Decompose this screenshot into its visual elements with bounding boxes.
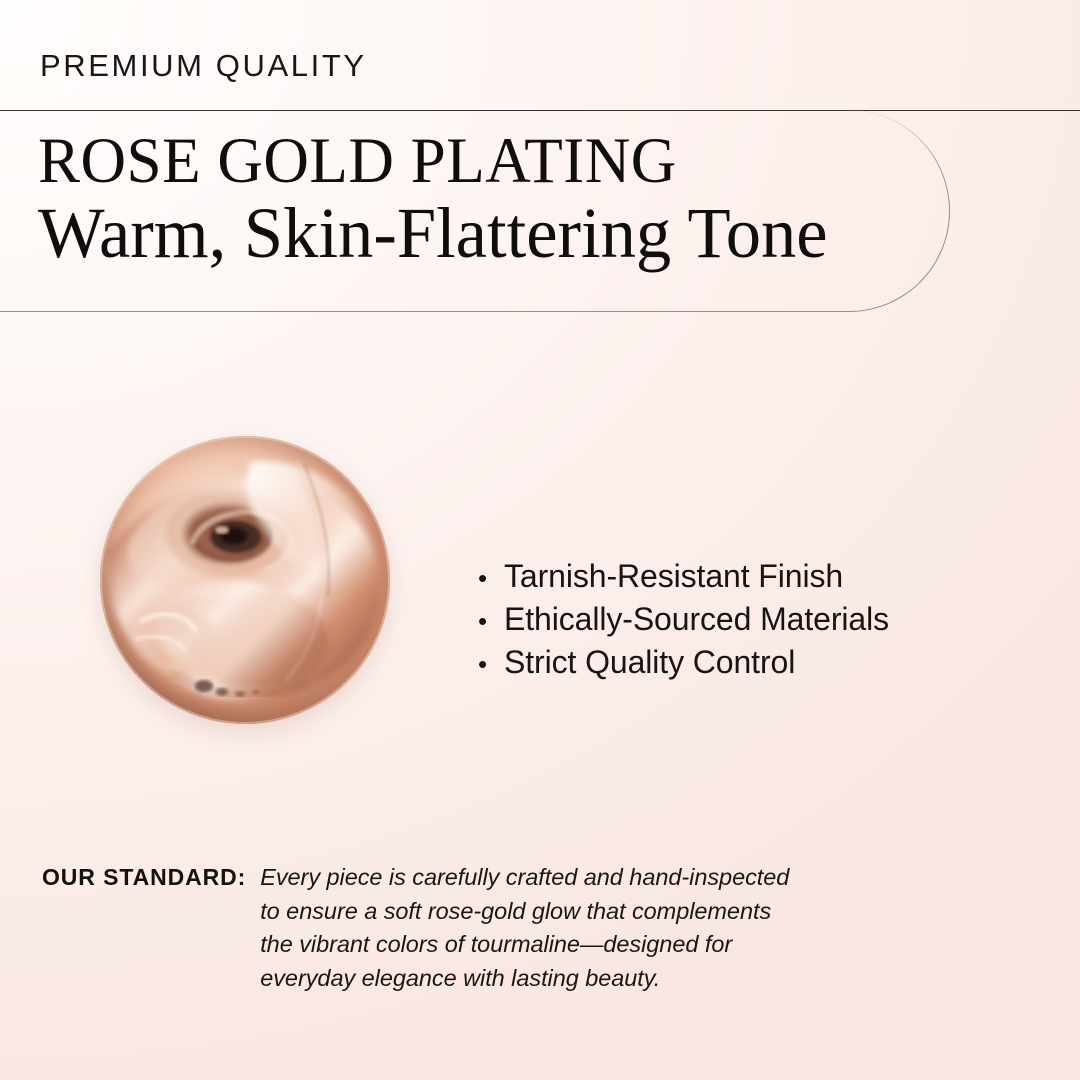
standard-body-line-2: to ensure a soft rose-gold glow that com… <box>260 895 950 929</box>
feature-label: Ethically-Sourced Materials <box>504 599 889 640</box>
bullet-icon: • <box>478 558 504 599</box>
bullet-icon: • <box>478 601 504 642</box>
eyebrow-label: PREMIUM QUALITY <box>40 48 367 84</box>
feature-label: Tarnish-Resistant Finish <box>504 556 843 597</box>
list-item: • Tarnish-Resistant Finish <box>478 556 998 599</box>
standard-body-line-1: Every piece is carefully crafted and han… <box>260 861 950 895</box>
standard-block: OUR STANDARD: Every piece is carefully c… <box>42 861 1002 995</box>
standard-body-line-3: the vibrant colors of tourmaline—designe… <box>260 928 950 962</box>
headline-line-1: ROSE GOLD PLATING <box>38 128 901 194</box>
standard-body: Every piece is carefully crafted and han… <box>260 861 950 995</box>
page-title: ROSE GOLD PLATING Warm, Skin-Flattering … <box>38 128 928 272</box>
standard-label: OUR STANDARD: <box>42 861 260 894</box>
feature-list: • Tarnish-Resistant Finish • Ethically-S… <box>478 556 998 685</box>
header-divider <box>0 110 1080 111</box>
standard-body-line-4: everyday elegance with lasting beauty. <box>260 962 950 996</box>
feature-label: Strict Quality Control <box>504 642 795 683</box>
headline-line-2: Warm, Skin-Flattering Tone <box>38 194 910 272</box>
rose-gold-orb-icon <box>100 436 390 724</box>
list-item: • Strict Quality Control <box>478 642 998 685</box>
product-image <box>96 430 396 730</box>
list-item: • Ethically-Sourced Materials <box>478 599 998 642</box>
bullet-icon: • <box>478 644 504 685</box>
